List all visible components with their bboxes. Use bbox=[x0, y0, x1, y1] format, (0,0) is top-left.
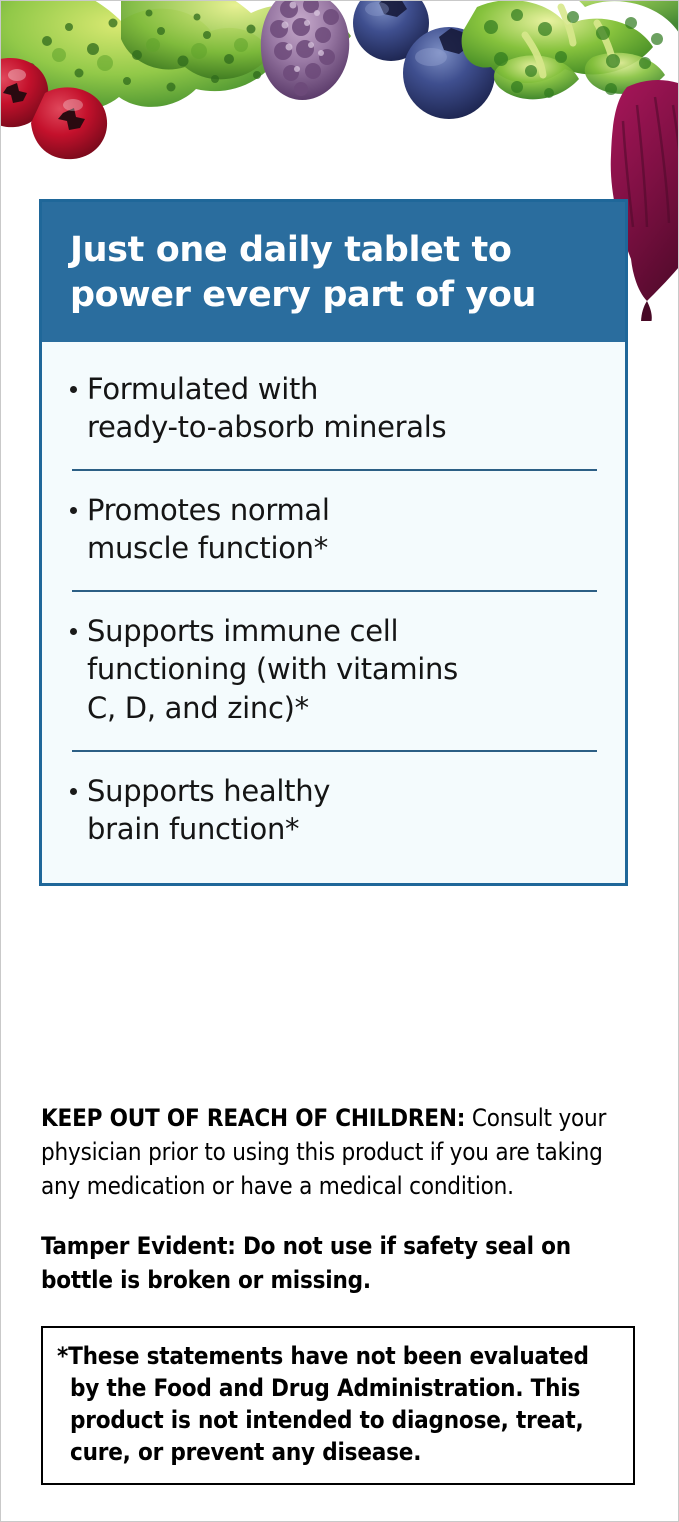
page-title: Just one daily tablet to power every par… bbox=[70, 228, 597, 318]
divider bbox=[72, 469, 597, 471]
kale-artwork bbox=[1, 1, 351, 110]
bullet-icon bbox=[70, 788, 77, 795]
tamper-evident-warning: Tamper Evident: Do not use if safety sea… bbox=[41, 1229, 637, 1297]
bullet-icon bbox=[70, 628, 77, 635]
divider bbox=[72, 590, 597, 592]
cranberry-artwork bbox=[1, 58, 107, 159]
list-item: Promotes normal muscle function* bbox=[62, 485, 605, 576]
benefits-card: Just one daily tablet to power every par… bbox=[39, 199, 628, 886]
broccoli-artwork bbox=[462, 1, 679, 99]
bullet-icon bbox=[70, 507, 77, 514]
blackberry-artwork bbox=[261, 1, 349, 100]
card-header: Just one daily tablet to power every par… bbox=[42, 202, 625, 342]
benefits-list: Formulated with ready-to-absorb minerals… bbox=[42, 342, 625, 883]
blueberry-artwork bbox=[353, 1, 495, 119]
divider bbox=[72, 750, 597, 752]
benefit-text: Promotes normal muscle function* bbox=[87, 491, 330, 568]
supplement-label-panel: Just one daily tablet to power every par… bbox=[0, 0, 679, 1522]
keep-out-of-reach-lead: KEEP OUT OF REACH OF CHILDREN: bbox=[41, 1104, 465, 1132]
bullet-icon bbox=[70, 386, 77, 393]
warnings-section: KEEP OUT OF REACH OF CHILDREN: Consult y… bbox=[41, 1101, 637, 1315]
list-item: Supports immune cell functioning (with v… bbox=[62, 606, 605, 736]
benefit-text: Supports healthy brain function* bbox=[87, 772, 330, 849]
list-item: Supports healthy brain function* bbox=[62, 766, 605, 857]
benefit-text: Supports immune cell functioning (with v… bbox=[87, 612, 458, 728]
fda-disclaimer-text: *These statements have not been evaluate… bbox=[57, 1340, 619, 1469]
keep-out-of-reach-warning: KEEP OUT OF REACH OF CHILDREN: Consult y… bbox=[41, 1101, 637, 1203]
list-item: Formulated with ready-to-absorb minerals bbox=[62, 364, 605, 455]
fda-disclaimer-box: *These statements have not been evaluate… bbox=[41, 1326, 635, 1485]
benefit-text: Formulated with ready-to-absorb minerals bbox=[87, 370, 446, 447]
